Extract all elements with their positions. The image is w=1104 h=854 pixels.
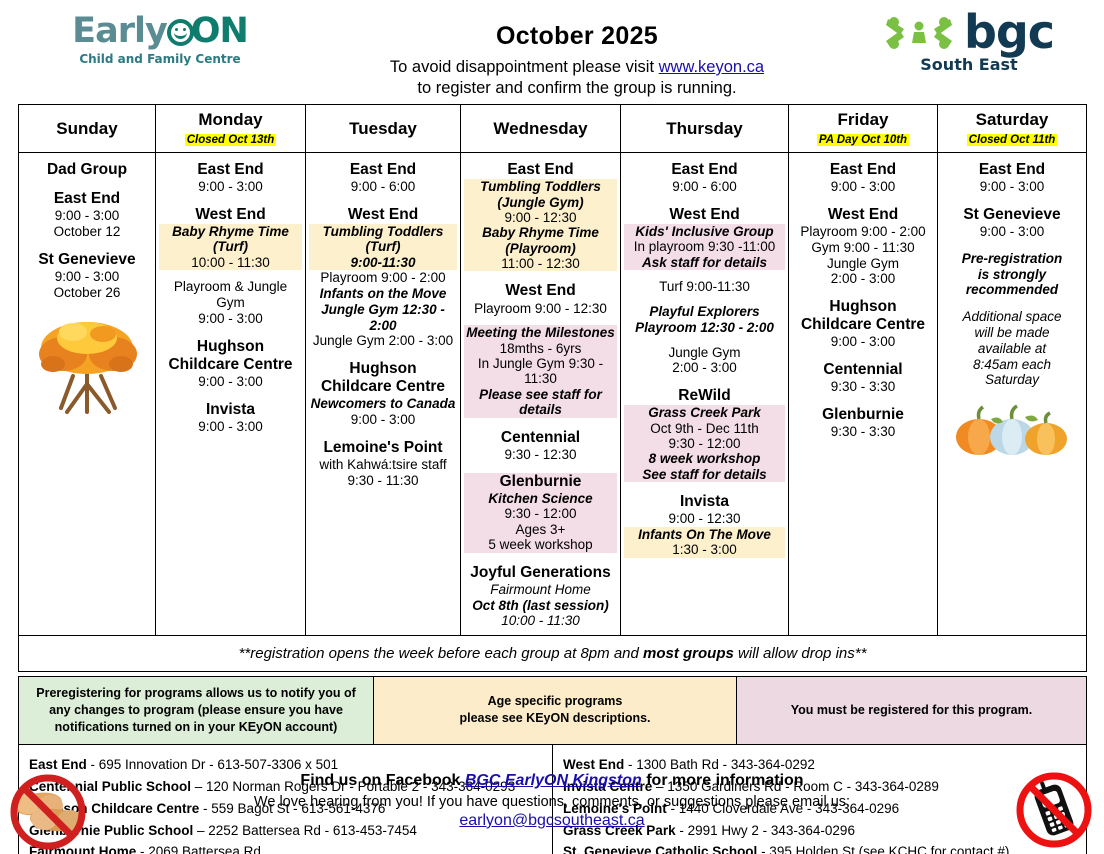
facebook-line: Find us on Facebook BGC EarlyON Kingston… xyxy=(0,772,1104,790)
program-block: West End Playroom 9:00 - 12:30 Meeting t… xyxy=(464,282,617,417)
program-detail: Turf 9:00-11:30 xyxy=(624,279,785,295)
day-name: Sunday xyxy=(21,119,153,139)
day-cell-sunday: Dad Group East End 9:00 - 3:00 October 1… xyxy=(19,153,156,636)
bgc-logo-text: bgc xyxy=(964,12,1054,53)
program-name: Baby Rhyme Time xyxy=(464,225,617,240)
program-detail: Jungle Gym xyxy=(792,256,934,272)
program-note: Please see staff for details xyxy=(464,387,617,418)
program-detail: Playroom 12:30 - 2:00 xyxy=(624,320,785,336)
program-location: (Playroom) xyxy=(464,241,617,256)
legend-age-specific: Age specific programs please see KEyON d… xyxy=(374,677,737,745)
day-name: Saturday xyxy=(940,110,1084,130)
program-note: Oct 8th (last session) xyxy=(464,598,617,614)
program-block: Joyful Generations Fairmount Home Oct 8t… xyxy=(464,564,617,629)
program-ages: Ages 3+ xyxy=(464,522,617,537)
day-name: Thursday xyxy=(623,119,786,139)
day-cell-wednesday: East End Tumbling Toddlers (Jungle Gym) … xyxy=(461,153,621,636)
program-name: Infants On The Move xyxy=(624,527,785,542)
location-detail: - 1300 Bath Rd - 343-364-0292 xyxy=(624,757,815,772)
program-block: Invista 9:00 - 12:30 Infants On The Move… xyxy=(624,493,785,558)
program-block: Centennial 9:30 - 12:30 xyxy=(464,429,617,463)
day-cell-thursday: East End 9:00 - 6:00 West End Kids' Incl… xyxy=(621,153,789,636)
note-line: available at xyxy=(941,341,1083,357)
legend-table: Preregistering for programs allows us to… xyxy=(18,676,1087,745)
day-closure-note: Closed Oct 13th xyxy=(185,134,277,146)
program-detail: In playroom 9:30 -11:00 xyxy=(624,239,785,254)
program-block: East End 9:00 - 6:00 xyxy=(309,161,457,195)
program-name: Baby Rhyme Time xyxy=(159,224,302,239)
program-note: 8 week workshop xyxy=(624,451,785,466)
note-text-post: will allow drop ins** xyxy=(734,645,867,662)
program-block: Hughson Childcare Centre Newcomers to Ca… xyxy=(309,360,457,428)
program-block: Dad Group xyxy=(22,161,152,179)
program-time: 10:00 - 11:30 xyxy=(464,613,617,629)
program-time: 11:00 - 12:30 xyxy=(464,256,617,271)
program-name: Meeting the Milestones xyxy=(464,325,617,340)
program-name: Kids' Inclusive Group xyxy=(624,224,785,239)
location-detail: - 395 Holden St (see KCHC for contact #) xyxy=(757,844,1009,854)
program-date: October 12 xyxy=(22,224,152,240)
program-block: East End Tumbling Toddlers (Jungle Gym) … xyxy=(464,161,617,271)
day-header-tuesday: Tuesday xyxy=(306,105,461,153)
autumn-tree-icon xyxy=(33,312,141,417)
page-title: October 2025 xyxy=(310,22,844,51)
program-site: St Genevieve xyxy=(22,251,152,269)
program-dates: Oct 9th - Dec 11th xyxy=(624,421,785,436)
program-time: 9:00 - 3:00 xyxy=(159,179,302,195)
pumpkins-icon xyxy=(953,399,1071,457)
program-block: Invista 9:00 - 3:00 xyxy=(159,401,302,435)
program-time: 9:30 - 3:30 xyxy=(792,379,934,395)
smiley-icon xyxy=(167,19,194,46)
program-site: Joyful Generations xyxy=(464,564,617,582)
program-site: Centennial xyxy=(464,429,617,447)
program-block: Lemoine's Point with Kahwá:tsire staff 9… xyxy=(309,439,457,489)
header-sub-pre: To avoid disappointment please visit xyxy=(390,58,659,76)
program-site: East End xyxy=(309,161,457,179)
day-header-saturday: Saturday Closed Oct 11th xyxy=(938,105,1087,153)
program-time: 9:00 - 12:30 xyxy=(624,511,785,527)
program-site: East End xyxy=(464,161,617,179)
note-text-pre: **registration opens the week before eac… xyxy=(239,645,643,662)
day-name: Tuesday xyxy=(308,119,458,139)
program-site: ReWild xyxy=(624,387,785,405)
email-link[interactable]: earlyon@bgcsoutheast.ca xyxy=(459,812,644,830)
program-time: 9:00 - 12:30 xyxy=(464,210,617,225)
bgc-logo-subtitle: South East xyxy=(844,55,1094,74)
note-line: Pre-registration xyxy=(941,251,1083,267)
program-note: Ask staff for details xyxy=(624,255,785,270)
program-block: East End 9:00 - 6:00 xyxy=(624,161,785,195)
day-cell-friday: East End 9:00 - 3:00 West End Playroom 9… xyxy=(789,153,938,636)
program-block: West End Playroom 9:00 - 2:00 Gym 9:00 -… xyxy=(792,206,934,287)
program-site: East End xyxy=(22,190,152,208)
program-site: East End xyxy=(792,161,934,179)
program-time: 10:00 - 11:30 xyxy=(159,255,302,270)
day-name: Friday xyxy=(791,110,935,130)
program-block: ReWild Grass Creek Park Oct 9th - Dec 11… xyxy=(624,387,785,482)
program-title: Dad Group xyxy=(22,161,152,179)
registration-note: Pre-registration is strongly recommended xyxy=(941,251,1083,298)
keyon-website-link[interactable]: www.keyon.ca xyxy=(659,58,764,76)
no-peanuts-icon xyxy=(2,772,94,852)
day-cell-monday: East End 9:00 - 3:00 West End Baby Rhyme… xyxy=(156,153,306,636)
program-time: 9:00 - 3:00 xyxy=(22,269,152,285)
program-site: Glenburnie xyxy=(464,473,617,491)
program-time: 9:30 - 3:30 xyxy=(792,424,934,440)
program-note: See staff for details xyxy=(624,467,785,482)
program-detail: with Kahwá:tsire staff xyxy=(309,457,457,473)
legend-line: You must be registered for this program. xyxy=(743,702,1080,719)
program-site: West End xyxy=(464,282,617,300)
program-site: Glenburnie xyxy=(792,406,934,424)
earlyon-tagline: Child and Family Centre xyxy=(10,52,310,66)
program-detail: Playroom 9:00 - 12:30 xyxy=(464,301,617,317)
day-header-thursday: Thursday xyxy=(621,105,789,153)
program-site: West End xyxy=(159,206,302,224)
program-block: West End Baby Rhyme Time (Turf) 10:00 - … xyxy=(159,206,302,327)
program-time: 9:00 - 3:00 xyxy=(159,374,302,390)
program-name: Tumbling Toddlers xyxy=(309,224,457,239)
legend-line: Preregistering for programs allows us to… xyxy=(25,685,367,702)
location-name: West End xyxy=(563,757,624,772)
weekly-schedule-table: Sunday Monday Closed Oct 13th Tuesday We… xyxy=(18,104,1087,672)
program-site: Hughson xyxy=(309,360,457,378)
legend-line: any changes to program (please ensure yo… xyxy=(25,702,367,719)
program-block: East End 9:00 - 3:00 xyxy=(159,161,302,195)
program-name: Tumbling Toddlers xyxy=(464,179,617,194)
note-line: Saturday xyxy=(941,372,1083,388)
legend-line: please see KEyON descriptions. xyxy=(380,710,730,727)
program-time: 1:30 - 3:00 xyxy=(624,542,785,557)
day-header-row: Sunday Monday Closed Oct 13th Tuesday We… xyxy=(19,105,1087,153)
program-time: 9:00 - 3:00 xyxy=(309,412,457,428)
program-block: Hughson Childcare Centre 9:00 - 3:00 xyxy=(159,338,302,390)
program-block: Centennial 9:30 - 3:30 xyxy=(792,361,934,395)
legend-line: Age specific programs xyxy=(380,693,730,710)
program-block: West End Kids' Inclusive Group In playro… xyxy=(624,206,785,376)
program-site: Centennial xyxy=(792,361,934,379)
day-name: Monday xyxy=(158,110,303,130)
program-block: East End 9:00 - 3:00 October 12 xyxy=(22,190,152,240)
day-cell-tuesday: East End 9:00 - 6:00 West End Tumbling T… xyxy=(306,153,461,636)
program-site: Hughson xyxy=(792,298,934,316)
program-site: East End xyxy=(941,161,1083,179)
program-detail: Playroom 9:00 - 2:00 xyxy=(309,270,457,286)
header-center: October 2025 To avoid disappointment ple… xyxy=(310,4,844,99)
program-detail: Gym xyxy=(159,295,302,311)
program-name: Infants on the Move xyxy=(309,286,457,302)
program-time: 9:00 - 3:00 xyxy=(159,419,302,435)
day-header-wednesday: Wednesday xyxy=(461,105,621,153)
location-detail: - 695 Innovation Dr - 613-507-3306 x 501 xyxy=(87,757,338,772)
program-location: (Turf) xyxy=(309,239,457,254)
page-footer: Find us on Facebook BGC EarlyON Kingston… xyxy=(0,772,1104,830)
program-time: 2:00 - 3:00 xyxy=(792,271,934,287)
day-header-monday: Monday Closed Oct 13th xyxy=(156,105,306,153)
location-row: Fairmount Home - 2069 Battersea Rd. xyxy=(29,841,542,854)
program-site: Childcare Centre xyxy=(792,316,934,334)
program-time: 9:30 - 12:00 xyxy=(624,436,785,451)
program-location: (Turf) xyxy=(159,239,302,254)
program-block: East End 9:00 - 3:00 xyxy=(941,161,1083,195)
day-header-sunday: Sunday xyxy=(19,105,156,153)
program-site: Childcare Centre xyxy=(309,378,457,396)
program-time: 9:00 - 6:00 xyxy=(624,179,785,195)
page-header: EarlyON Child and Family Centre October … xyxy=(0,0,1104,100)
note-text-bold: most groups xyxy=(643,645,734,662)
location-name: St. Genevieve Catholic School xyxy=(563,844,757,854)
note-line: 8:45am each xyxy=(941,357,1083,373)
program-block: West End Tumbling Toddlers (Turf) 9:00-1… xyxy=(309,206,457,349)
program-time: 9:30 - 11:30 xyxy=(309,473,457,489)
facebook-page-link[interactable]: BGC EarlyON Kingston xyxy=(465,772,642,789)
program-location: (Jungle Gym) xyxy=(464,195,617,210)
program-detail: Playroom 9:00 - 2:00 xyxy=(792,224,934,240)
program-note: 5 week workshop xyxy=(464,537,617,552)
facebook-pre-text: Find us on Facebook xyxy=(300,772,464,789)
day-closure-note: Closed Oct 11th xyxy=(967,134,1058,146)
program-site: Hughson xyxy=(159,338,302,356)
header-subtitle: To avoid disappointment please visit www… xyxy=(310,57,844,99)
note-line: will be made xyxy=(941,325,1083,341)
program-detail: In Jungle Gym 9:30 - 11:30 xyxy=(464,356,617,387)
program-block: Hughson Childcare Centre 9:00 - 3:00 xyxy=(792,298,934,350)
program-detail: Jungle Gym xyxy=(624,345,785,361)
program-time: 9:30 - 12:00 xyxy=(464,506,617,521)
earlyon-logo: EarlyON Child and Family Centre xyxy=(10,4,310,66)
program-location: Fairmount Home xyxy=(464,582,617,598)
program-time: 9:30 - 12:30 xyxy=(464,447,617,463)
program-date: October 26 xyxy=(22,285,152,301)
space-note: Additional space will be made available … xyxy=(941,309,1083,388)
program-time: 9:00 - 3:00 xyxy=(792,334,934,350)
program-time: 9:00 - 3:00 xyxy=(22,208,152,224)
day-name: Wednesday xyxy=(463,119,618,139)
note-line: Additional space xyxy=(941,309,1083,325)
location-detail: - 2069 Battersea Rd. xyxy=(136,844,264,854)
program-site: St Genevieve xyxy=(941,206,1083,224)
program-detail: Playroom & Jungle xyxy=(159,279,302,295)
program-detail: Jungle Gym 2:00 - 3:00 xyxy=(309,333,457,349)
program-block: Glenburnie 9:30 - 3:30 xyxy=(792,406,934,440)
bgc-people-icon xyxy=(884,13,954,53)
earlyon-logo-text-on: ON xyxy=(191,14,248,49)
program-location: Grass Creek Park xyxy=(624,405,785,420)
earlyon-logo-text-early: Early xyxy=(72,14,167,49)
program-site: West End xyxy=(309,206,457,224)
program-time: 9:00 - 3:00 xyxy=(941,179,1083,195)
program-time: 9:00-11:30 xyxy=(309,255,457,270)
program-time: 9:00 - 3:00 xyxy=(941,224,1083,240)
program-site: Invista xyxy=(624,493,785,511)
program-time: 2:00 - 3:00 xyxy=(624,360,785,376)
location-name: East End xyxy=(29,757,87,772)
bgc-logo: bgc South East xyxy=(844,4,1094,74)
program-site: East End xyxy=(624,161,785,179)
program-name: Newcomers to Canada xyxy=(309,396,457,412)
program-site: Invista xyxy=(159,401,302,419)
program-block: Glenburnie Kitchen Science 9:30 - 12:00 … xyxy=(464,473,617,552)
note-line: recommended xyxy=(941,282,1083,298)
day-cell-saturday: East End 9:00 - 3:00 St Genevieve 9:00 -… xyxy=(938,153,1087,636)
program-block: East End 9:00 - 3:00 xyxy=(792,161,934,195)
program-detail: Jungle Gym 12:30 - 2:00 xyxy=(309,302,457,334)
program-block: St Genevieve 9:00 - 3:00 xyxy=(941,206,1083,240)
day-header-friday: Friday PA Day Oct 10th xyxy=(789,105,938,153)
footer-subtitle: We love hearing from you! If you have qu… xyxy=(0,794,1104,810)
program-detail: Gym 9:00 - 11:30 xyxy=(792,240,934,256)
no-cellphones-icon xyxy=(1008,770,1100,850)
legend-preregister: Preregistering for programs allows us to… xyxy=(19,677,374,745)
program-name: Kitchen Science xyxy=(464,491,617,506)
header-sub-line2: to register and confirm the group is run… xyxy=(417,79,736,97)
facebook-post-text: for more information xyxy=(642,772,804,789)
program-block: St Genevieve 9:00 - 3:00 October 26 xyxy=(22,251,152,301)
program-time: 9:00 - 3:00 xyxy=(159,311,302,327)
registration-note-row: **registration opens the week before eac… xyxy=(19,636,1087,672)
program-site: Childcare Centre xyxy=(159,356,302,374)
program-site: West End xyxy=(624,206,785,224)
program-name: Playful Explorers xyxy=(624,304,785,320)
legend-line: notifications turned on in your KEyON ac… xyxy=(25,719,367,736)
program-site: Lemoine's Point xyxy=(309,439,457,457)
program-time: 9:00 - 3:00 xyxy=(792,179,934,195)
calendar-page: EarlyON Child and Family Centre October … xyxy=(0,0,1104,854)
program-site: East End xyxy=(159,161,302,179)
program-site: West End xyxy=(792,206,934,224)
location-row: St. Genevieve Catholic School - 395 Hold… xyxy=(563,841,1076,854)
day-closure-note: PA Day Oct 10th xyxy=(817,134,909,146)
legend-must-register: You must be registered for this program. xyxy=(737,677,1087,745)
program-ages: 18mths - 6yrs xyxy=(464,341,617,356)
note-line: is strongly xyxy=(941,267,1083,283)
program-time: 9:00 - 6:00 xyxy=(309,179,457,195)
